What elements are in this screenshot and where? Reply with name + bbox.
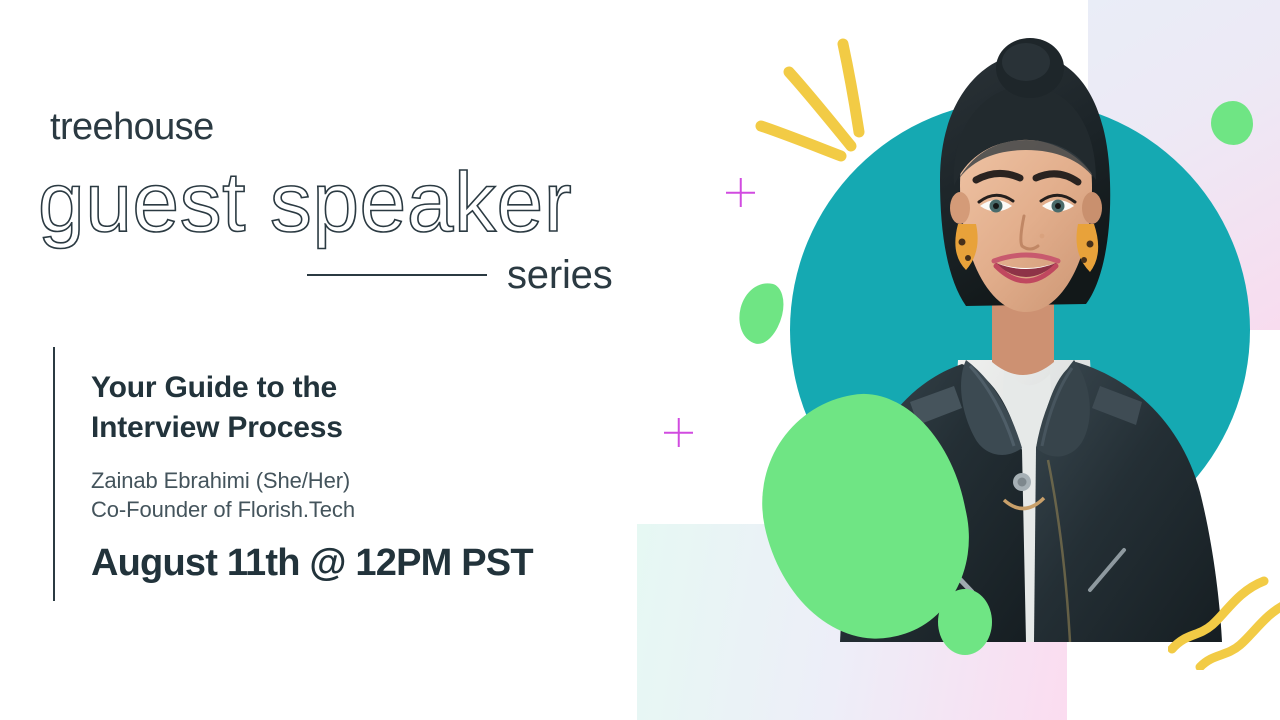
speaker-role: Co-Founder of Florish.Tech — [91, 495, 651, 524]
event-datetime: August 11th @ 12PM PST — [91, 543, 651, 585]
hero-outline-title: guest speaker — [38, 160, 572, 244]
series-row: series — [307, 255, 613, 295]
sparkle-strokes-icon — [745, 28, 875, 178]
talk-title-line-2: Interview Process — [91, 411, 343, 444]
event-info-block: Your Guide to the Interview Process Zain… — [91, 368, 651, 584]
slide-canvas: treehouse guest speaker series Your Guid… — [0, 0, 1280, 720]
event-vertical-divider — [53, 347, 55, 601]
plus-mark-upper-icon — [726, 178, 755, 207]
series-divider — [307, 274, 487, 276]
talk-title-line-1: Your Guide to the — [91, 371, 337, 404]
brand-name: treehouse — [50, 108, 214, 146]
left-content-column: treehouse guest speaker series Your Guid… — [0, 0, 700, 720]
talk-title: Your Guide to the Interview Process — [91, 368, 651, 447]
green-blob-bottom-shape — [938, 589, 992, 655]
wavy-strokes-icon — [1168, 575, 1280, 670]
series-label: series — [507, 255, 613, 295]
speaker-name: Zainab Ebrahimi (She/Her) — [91, 466, 651, 495]
green-blob-small-left-shape — [733, 278, 789, 348]
